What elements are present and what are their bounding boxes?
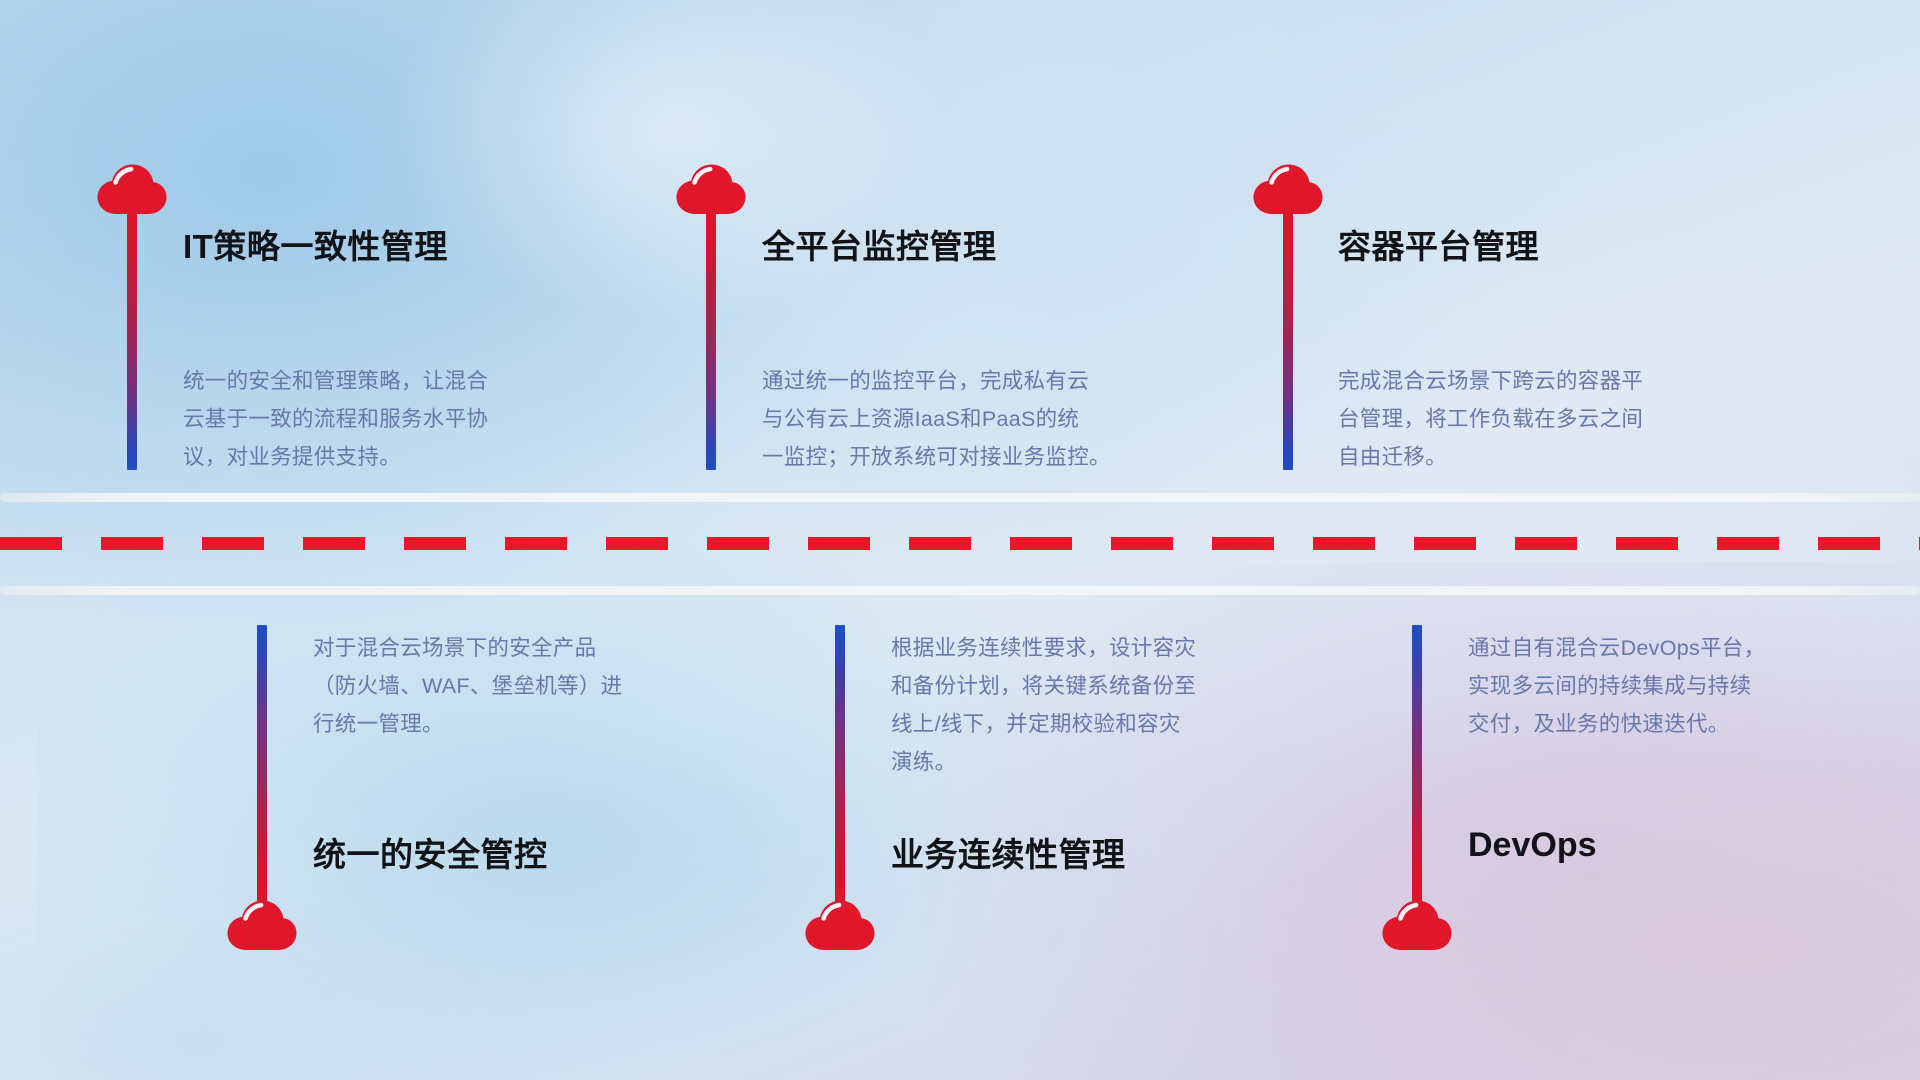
card-body: 对于混合云场景下的安全产品 （防火墙、WAF、堡垒机等）进 行统一管理。	[313, 629, 743, 743]
card-accent-bar	[835, 625, 845, 910]
divider-band	[0, 485, 1920, 605]
divider-line-bottom	[0, 586, 1920, 595]
card-title: DevOps	[1468, 826, 1597, 865]
infographic-canvas: IT策略一致性管理 统一的安全和管理策略，让混合 云基于一致的流程和服务水平协 …	[0, 0, 1920, 1080]
card-title: IT策略一致性管理	[183, 220, 448, 268]
card-accent-bar	[257, 625, 267, 910]
cloud-icon	[804, 896, 876, 954]
background-blob-highlight	[384, 0, 960, 324]
card-body: 通过统一的监控平台，完成私有云 与公有云上资源IaaS和PaaS的统 一监控；开…	[762, 362, 1202, 476]
divider-dashed-line	[0, 537, 1920, 550]
cloud-icon	[226, 896, 298, 954]
card-body: 根据业务连续性要求，设计容灾 和备份计划，将关键系统备份至 线上/线下，并定期校…	[891, 629, 1321, 781]
card-title: 统一的安全管控	[313, 828, 548, 876]
cloud-icon	[1381, 896, 1453, 954]
card-accent-bar	[1283, 205, 1293, 470]
card-title: 业务连续性管理	[891, 828, 1126, 876]
card-accent-bar	[127, 205, 137, 470]
card-title: 容器平台管理	[1338, 220, 1539, 268]
card-title: 全平台监控管理	[762, 220, 997, 268]
divider-line-top	[0, 493, 1920, 502]
card-accent-bar	[1412, 625, 1422, 910]
card-body: 通过自有混合云DevOps平台， 实现多云间的持续集成与持续 交付，及业务的快速…	[1468, 629, 1898, 743]
card-body: 统一的安全和管理策略，让混合 云基于一致的流程和服务水平协 议，对业务提供支持。	[183, 362, 613, 476]
card-accent-bar	[706, 205, 716, 470]
card-body: 完成混合云场景下跨云的容器平 台管理，将工作负载在多云之间 自由迁移。	[1338, 362, 1778, 476]
